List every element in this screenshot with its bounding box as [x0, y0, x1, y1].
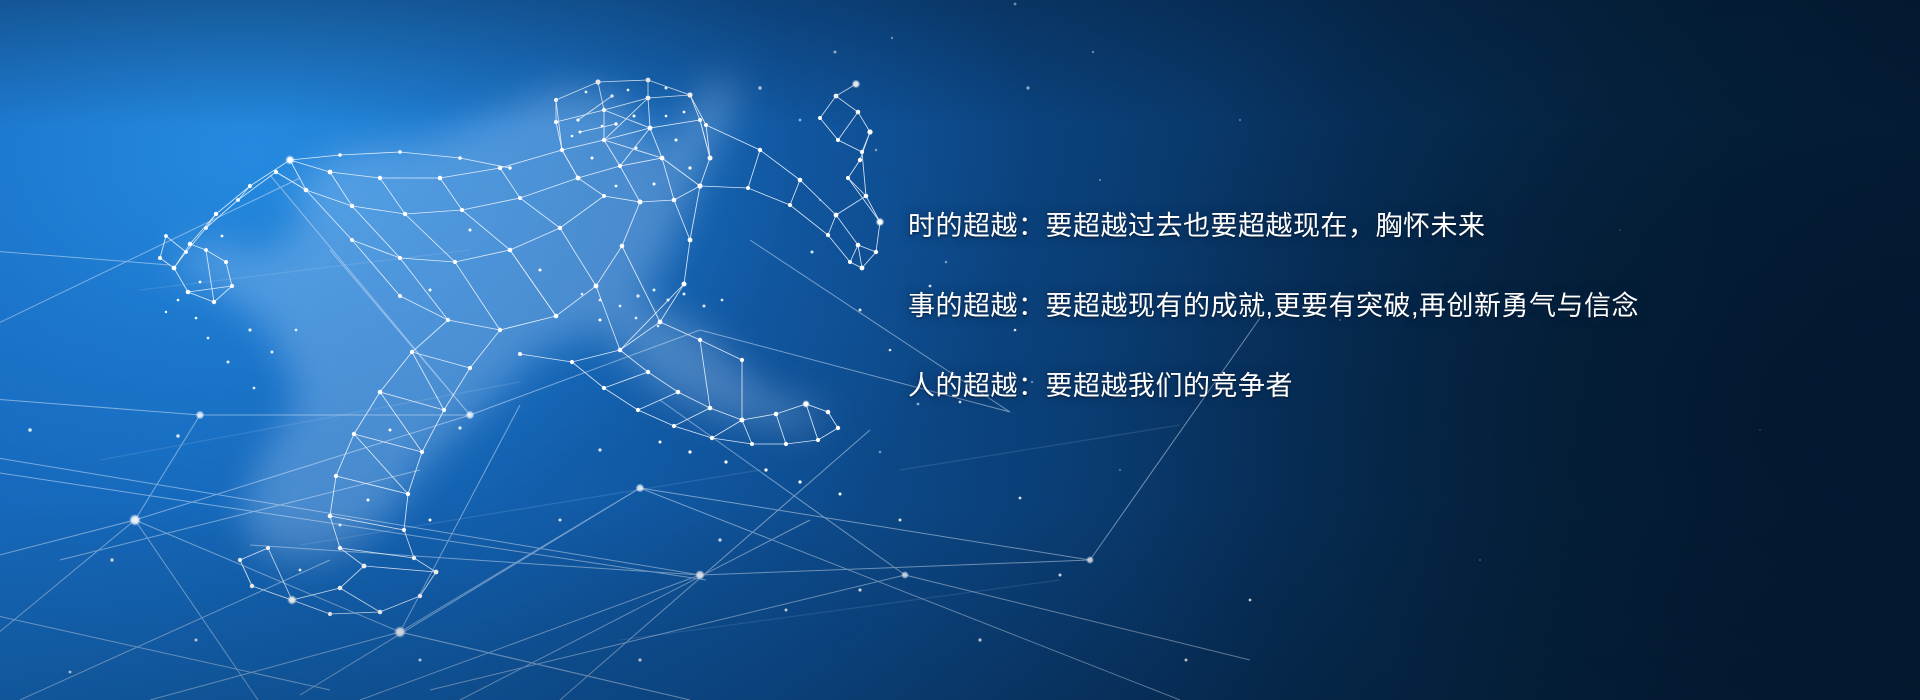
tagline-people: 人的超越：要超越我们的竞争者 [908, 346, 1868, 426]
banner-stage: 时的超越：要超越过去也要超越现在，胸怀未来 事的超越：要超越现有的成就,更要有突… [0, 0, 1920, 700]
tagline-matter: 事的超越：要超越现有的成就,更要有突破,再创新勇气与信念 [908, 266, 1868, 346]
tagline-block: 时的超越：要超越过去也要超越现在，胸怀未来 事的超越：要超越现有的成就,更要有突… [908, 186, 1868, 426]
tagline-time: 时的超越：要超越过去也要超越现在，胸怀未来 [908, 186, 1868, 266]
